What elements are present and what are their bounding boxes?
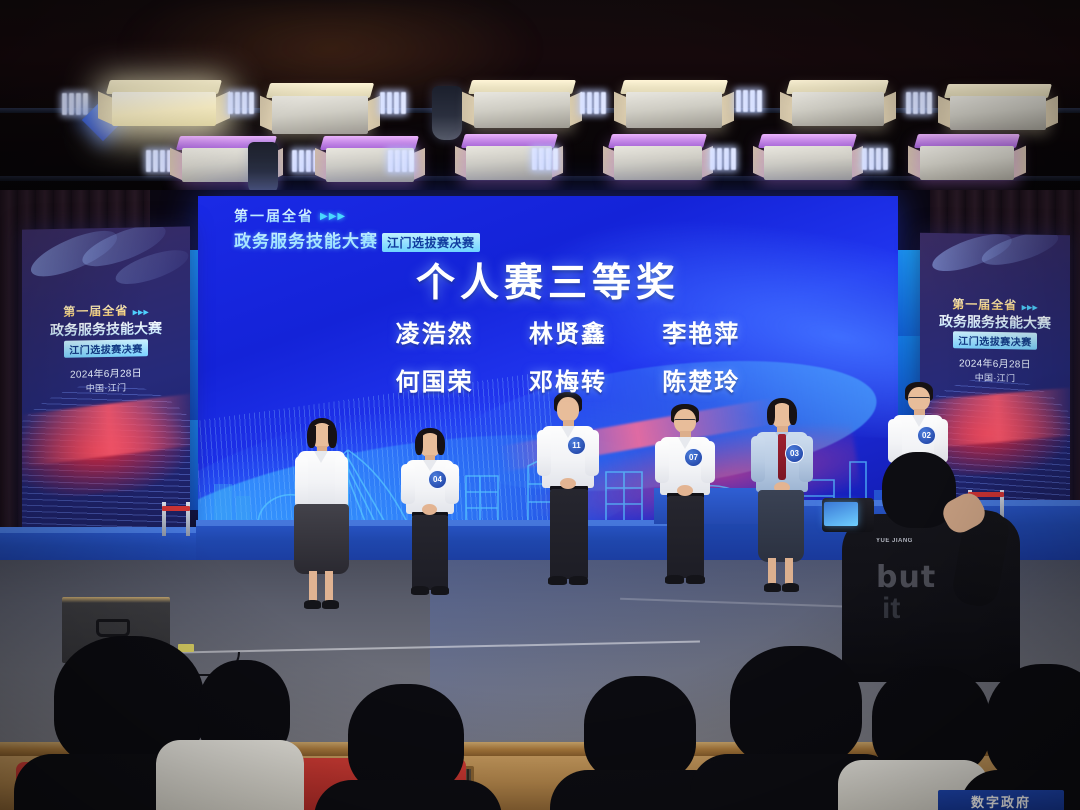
led-header-tag: 江门选拔赛决赛 [382, 233, 480, 252]
par-light-strip [736, 90, 762, 112]
winner-name: 林贤鑫 [501, 314, 634, 349]
stage-photo-scene: 第一届全省 ▶▶▶ 政务服务技能大赛 江门选拔赛决赛 个人赛三等奖 凌浩然 林贤… [0, 0, 1080, 810]
contestant-4: 07 [652, 404, 716, 604]
camera-screen [824, 502, 858, 526]
ceiling-area [0, 0, 1080, 200]
banner-tag: 江门选拔赛决赛 [64, 339, 148, 358]
spotlight-fixture [474, 92, 570, 128]
banner-line1: 第一届全省 [63, 304, 128, 319]
spotlight-fixture [950, 96, 1046, 130]
winners-list: 凌浩然 林贤鑫 李艳萍 何国荣 邓梅转 陈楚玲 [368, 314, 768, 397]
contestant-badge: 11 [567, 436, 586, 455]
spotlight-fixture [112, 92, 216, 126]
contestant-badge: 02 [917, 426, 936, 445]
banner-place: 中国·江门 [975, 373, 1016, 384]
par-light-strip [580, 92, 606, 114]
audience-white-jacket [156, 740, 304, 810]
glasses-icon [674, 419, 696, 424]
audience-member [330, 684, 482, 810]
contestant-badge: 07 [684, 448, 703, 467]
contestant-3: 11 [534, 392, 600, 608]
arrows-icon: ▶▶▶ [133, 309, 149, 316]
contestant-badge: 04 [428, 470, 447, 489]
contestant-1 [290, 418, 352, 618]
moving-head-light [248, 142, 278, 196]
shirt-logo-text: YUE JIANG [876, 538, 913, 544]
contestant-badge: 03 [785, 444, 804, 463]
foreground-blue-banner: 数字政府 [938, 790, 1064, 810]
winner-name: 何国荣 [368, 362, 501, 397]
spotlight-fixture [614, 146, 702, 180]
stand-crossbar [162, 506, 190, 511]
spotlight-fixture [764, 146, 852, 180]
riser-edge [0, 527, 210, 533]
contestant-5: 03 [748, 398, 814, 604]
winner-name: 凌浩然 [368, 314, 501, 349]
par-light-strip [380, 92, 406, 114]
arrows-icon: ▶▶▶ [1022, 304, 1038, 311]
shirt-print-text: it [882, 592, 900, 626]
spotlight-fixture [792, 92, 884, 126]
spotlight-fixture [920, 146, 1014, 180]
award-title: 个人赛三等奖 [198, 252, 898, 308]
par-light-strip [862, 148, 888, 170]
par-light-strip [62, 93, 88, 115]
spotlight-fixture [272, 96, 368, 134]
par-light-strip [532, 148, 558, 170]
arrows-icon: ▶▶▶ [320, 211, 346, 222]
banner-line1: 第一届全省 [952, 297, 1017, 312]
par-light-strip [228, 92, 254, 114]
banner-line2: 政务服务技能大赛 [939, 313, 1051, 331]
winner-name: 邓梅转 [501, 362, 634, 397]
par-light-strip [388, 150, 414, 172]
led-header: 第一届全省 ▶▶▶ 政务服务技能大赛 江门选拔赛决赛 [234, 206, 480, 252]
winner-name: 李艳萍 [635, 314, 768, 349]
led-header-line1: 第一届全省 [234, 206, 314, 226]
led-header-line2: 政务服务技能大赛 [234, 227, 378, 252]
contestant-2: 04 [398, 428, 460, 620]
moving-head-light [432, 86, 462, 140]
shirt-print-text: but [876, 560, 936, 595]
audience-member [976, 664, 1080, 810]
par-light-strip [906, 92, 932, 114]
par-light-strip [146, 150, 172, 172]
par-light-strip [710, 148, 736, 170]
winner-name: 陈楚玲 [635, 362, 768, 397]
spotlight-fixture [626, 92, 722, 128]
banner-place: 中国·江门 [86, 383, 127, 394]
banner-line2: 政务服务技能大赛 [50, 320, 162, 338]
banner-tag: 江门选拔赛决赛 [953, 331, 1037, 349]
glasses-icon [908, 397, 930, 402]
